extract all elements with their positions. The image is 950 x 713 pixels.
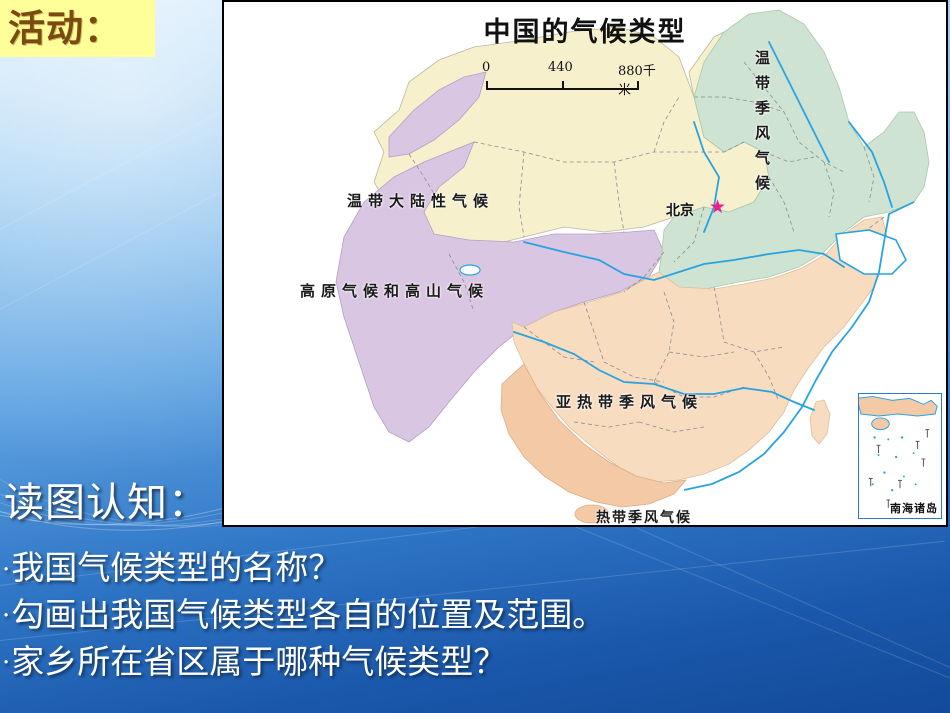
south-china-sea-inset[interactable]: 南海诸岛: [858, 393, 942, 519]
scale-tick-0: [486, 81, 488, 90]
map-scale-bar: 0 440 880千米: [482, 60, 667, 90]
scale-label-middle: 440: [548, 60, 573, 75]
map-panel[interactable]: 中国的气候类型 0 440 880千米 温带大陆性气候 高原气候和高山气候 温带…: [222, 0, 948, 527]
zone-label-temperate-continental: 温带大陆性气候: [347, 190, 494, 211]
bullet-marker-3: ·: [2, 648, 10, 678]
question-text-3: 家乡所在省区属于哪种气候类型？: [11, 642, 506, 681]
scale-label-start: 0: [482, 60, 490, 75]
taiwan-island-shape: [810, 400, 830, 444]
zone-label-subtropical-monsoon: 亚热带季风气候: [556, 391, 703, 412]
reading-heading: 读图认知：: [4, 483, 209, 523]
question-text-1: 我国气候类型的名称？: [11, 548, 341, 587]
capital-star-icon: ★: [709, 198, 726, 217]
slide-canvas: 活动：: [0, 0, 950, 713]
activity-title-label: 活动：: [0, 10, 122, 47]
question-item-2: ·勾画出我国气候类型各自的位置及范围。: [2, 592, 948, 639]
zone-label-plateau-alpine: 高原气候和高山气候: [300, 280, 489, 301]
question-item-1: ·我国气候类型的名称？: [2, 545, 948, 592]
scale-label-end: 880千米: [618, 60, 667, 98]
question-text-2: 勾画出我国气候类型各自的位置及范围。: [11, 595, 605, 634]
question-list: ·我国气候类型的名称？ ·勾画出我国气候类型各自的位置及范围。 ·家乡所在省区属…: [2, 545, 948, 686]
lake-qinghai-shape: [460, 265, 480, 275]
scale-tick-2: [637, 81, 639, 90]
city-label-beijing: 北京: [666, 200, 694, 220]
zone-label-tropical-monsoon: 热带季风气候: [596, 507, 692, 527]
bullet-marker-1: ·: [2, 555, 10, 585]
scale-tick-1: [562, 81, 564, 90]
zone-label-temperate-monsoon: 温带季风气候: [752, 50, 773, 265]
map-title: 中国的气候类型: [224, 10, 946, 49]
activity-title-box: 活动：: [0, 0, 155, 57]
inset-map-label: 南海诸岛: [890, 500, 938, 516]
bullet-marker-2: ·: [2, 601, 10, 631]
question-item-3: ·家乡所在省区属于哪种气候类型？: [2, 639, 948, 686]
